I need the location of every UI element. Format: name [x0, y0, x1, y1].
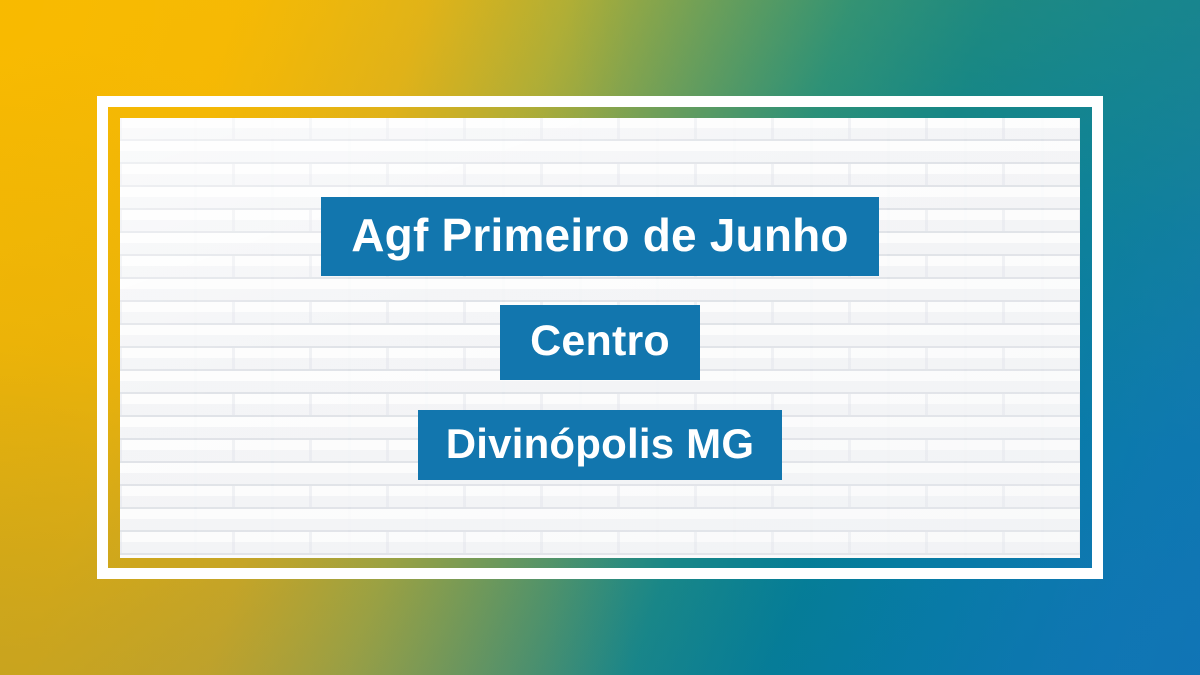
- city-state-band: Divinópolis MG: [418, 410, 782, 480]
- poster-canvas: Agf Primeiro de Junho Centro Divinópolis…: [0, 0, 1200, 675]
- agency-title-band: Agf Primeiro de Junho: [321, 197, 878, 276]
- content-panel: Agf Primeiro de Junho Centro Divinópolis…: [120, 118, 1080, 558]
- label-stack: Agf Primeiro de Junho Centro Divinópolis…: [120, 197, 1080, 480]
- district-band: Centro: [500, 305, 700, 380]
